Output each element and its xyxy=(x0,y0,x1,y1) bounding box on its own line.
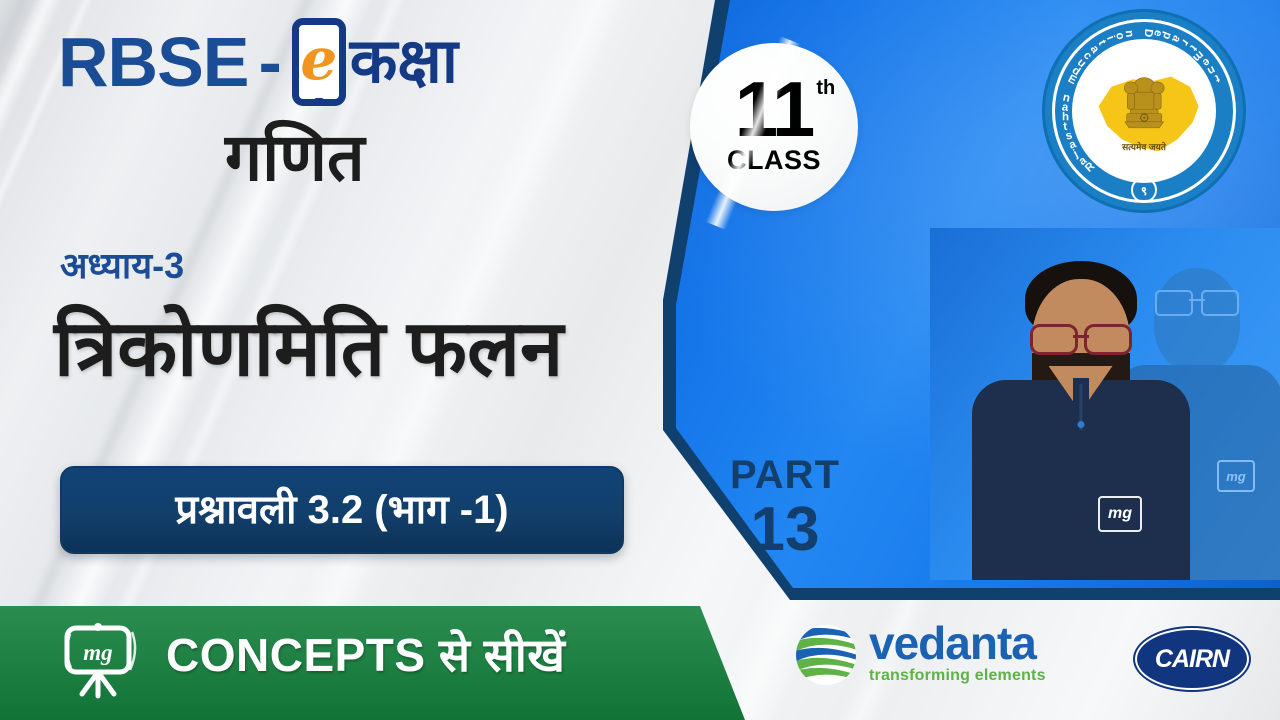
emblem-curved-letter: t xyxy=(1213,72,1221,85)
mg-logo-text: mg xyxy=(83,640,112,665)
smartphone-icon: e xyxy=(292,18,346,106)
part-number: 13 xyxy=(700,499,870,561)
subject-title: गणित xyxy=(225,124,365,190)
brand-title-row: RBSE - e कक्षा xyxy=(58,18,458,106)
instructors-photo: mg xyxy=(930,228,1280,580)
sponsor-vedanta: vedanta transforming elements xyxy=(795,622,1046,684)
title-dash: - xyxy=(258,27,281,97)
chapter-title: त्रिकोणमिति फलन xyxy=(54,308,563,390)
board-name: RBSE xyxy=(58,27,248,97)
instructor-front: mg xyxy=(968,235,1193,580)
chapter-label: अध्याय-3 xyxy=(60,248,184,284)
vedanta-globe-icon xyxy=(795,624,857,686)
instructor-front-logo: mg xyxy=(1098,496,1142,532)
instructor-back-logo-text: mg xyxy=(1226,469,1246,484)
emblem-center: सत्यमेव जयते xyxy=(1072,39,1216,183)
kaksha-text: कक्षा xyxy=(350,31,458,93)
footer-tagline: CONCEPTS से सीखें xyxy=(166,632,565,678)
class-ordinal-suffix: th xyxy=(816,80,835,96)
rajasthan-education-department-emblem: Rajasthan Education Department xyxy=(1045,12,1243,210)
emblem-bottom-mark-text: ९ xyxy=(1141,182,1147,199)
exercise-button-label: प्रश्नावली 3.2 (भाग -1) xyxy=(175,490,508,530)
cairn-name: CAIRN xyxy=(1155,645,1229,674)
vedanta-name: vedanta xyxy=(869,622,1046,666)
e-letter: e xyxy=(300,30,337,88)
mg-easel-icon: mg xyxy=(58,622,144,702)
class-badge: 11 th CLASS xyxy=(690,43,858,211)
exercise-button[interactable]: प्रश्नावली 3.2 (भाग -1) xyxy=(60,466,624,554)
thumbnail-canvas: mg xyxy=(0,0,1280,720)
emblem-motto: सत्यमेव जयते xyxy=(1072,140,1216,153)
part-label: PART xyxy=(700,455,870,495)
vedanta-tagline: transforming elements xyxy=(869,668,1046,684)
instructor-front-logo-text: mg xyxy=(1108,505,1132,523)
sponsor-cairn: CAIRN xyxy=(1135,628,1249,690)
part-indicator: PART 13 xyxy=(700,455,870,561)
instructor-back-logo: mg xyxy=(1217,460,1255,492)
emblem-bottom-mark: ९ xyxy=(1131,177,1157,203)
